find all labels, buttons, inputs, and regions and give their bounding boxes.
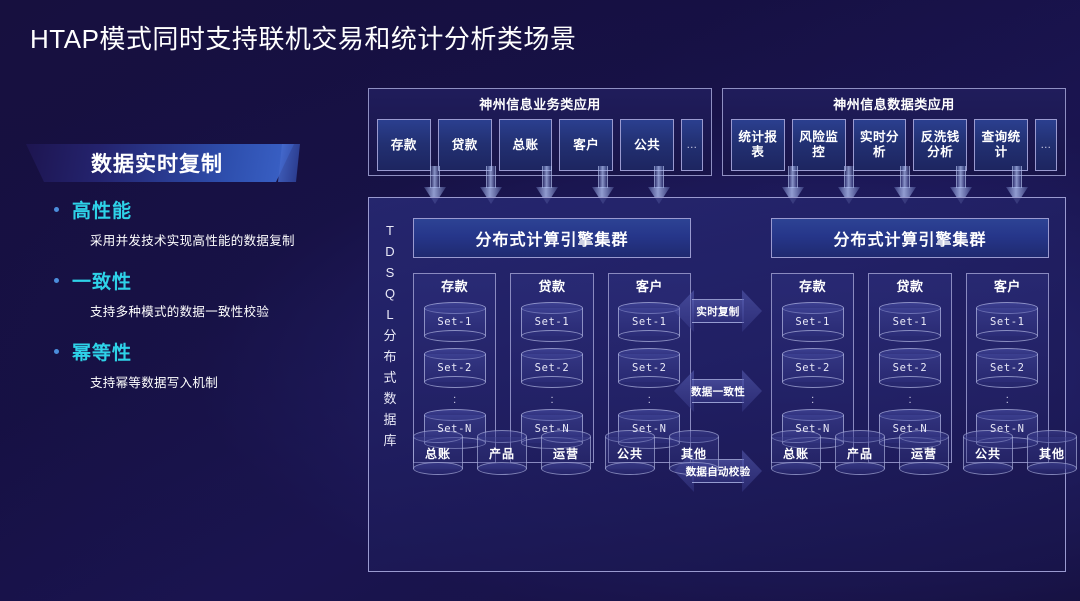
- app-cell-row: 统计报表 风险监控 实时分析 反洗钱分析 查询统计 …: [731, 119, 1057, 171]
- app-cell[interactable]: 公共: [620, 119, 674, 171]
- set-cylinder[interactable]: Set-1: [976, 302, 1038, 342]
- domain-title: 存款: [799, 278, 826, 296]
- bullet-dot-icon: [54, 349, 59, 354]
- set-cylinder[interactable]: Set-1: [782, 302, 844, 342]
- domain-row: 存款 Set-1 Set-2 .. Set-N 贷款 Set-1 Set-2 .…: [413, 273, 691, 463]
- feature-item-0: 高性能 采用并发技术实现高性能的数据复制: [26, 196, 356, 249]
- app-cell[interactable]: 贷款: [438, 119, 492, 171]
- set-label: Set-2: [990, 362, 1025, 374]
- set-cylinder[interactable]: Set-2: [618, 348, 680, 388]
- tdsql-char: 布: [377, 346, 403, 367]
- feature-item-1: 一致性 支持多种模式的数据一致性校验: [26, 267, 356, 320]
- set-cylinder[interactable]: Set-2: [424, 348, 486, 388]
- app-cell-more[interactable]: …: [1035, 119, 1057, 171]
- app-cell[interactable]: 存款: [377, 119, 431, 171]
- set-label: Set-N: [535, 423, 570, 435]
- app-cell[interactable]: 客户: [559, 119, 613, 171]
- set-label: Set-2: [795, 362, 830, 374]
- compute-engine-box[interactable]: 分布式计算引擎集群: [413, 218, 691, 258]
- set-cylinder[interactable]: Set-2: [879, 348, 941, 388]
- app-cell-more[interactable]: …: [681, 119, 703, 171]
- compute-engine-box[interactable]: 分布式计算引擎集群: [771, 218, 1049, 258]
- sync-arrow-realtime-replication: 实时复制: [674, 290, 762, 332]
- set-cylinder[interactable]: Set-2: [782, 348, 844, 388]
- feature-desc: 支持幂等数据写入机制: [26, 372, 356, 391]
- cluster-left: 分布式计算引擎集群 存款 Set-1 Set-2 .. Set-N 贷款 Set…: [413, 218, 691, 463]
- set-label: Set-N: [632, 423, 667, 435]
- set-label: Set-N: [437, 423, 472, 435]
- architecture-diagram: 神州信息业务类应用 存款 贷款 总账 客户 公共 … 神州信息数据类应用 统计报…: [368, 88, 1068, 574]
- tdsql-char: D: [377, 241, 403, 262]
- feature-title-row: 一致性: [26, 267, 356, 294]
- tdsql-char: 式: [377, 367, 403, 388]
- domain-title: 存款: [441, 278, 468, 296]
- tdsql-char: T: [377, 220, 403, 241]
- set-cylinder[interactable]: Set-1: [879, 302, 941, 342]
- vertical-ellipsis-icon: ..: [811, 393, 814, 403]
- app-cell[interactable]: 反洗钱分析: [913, 119, 967, 171]
- bottom-cylinder[interactable]: 运营: [899, 430, 949, 476]
- sync-arrow-data-consistency: 数据一致性: [674, 370, 762, 412]
- tdsql-char: S: [377, 262, 403, 283]
- banner-label: 数据实时复制: [26, 148, 294, 178]
- bottom-cylinder-label: 总账: [425, 445, 451, 462]
- set-cylinder[interactable]: Set-2: [976, 348, 1038, 388]
- tdsql-char: 库: [377, 430, 403, 451]
- feature-desc: 支持多种模式的数据一致性校验: [26, 301, 356, 320]
- set-label: Set-1: [535, 316, 570, 328]
- sync-arrow-label: 数据一致性: [674, 370, 762, 412]
- bottom-cylinder[interactable]: 总账: [413, 430, 463, 476]
- feature-title-row: 幂等性: [26, 338, 356, 365]
- bottom-cylinder[interactable]: 产品: [835, 430, 885, 476]
- set-cylinder[interactable]: Set-1: [618, 302, 680, 342]
- domain-title: 贷款: [896, 278, 923, 296]
- set-label: Set-N: [795, 423, 830, 435]
- bottom-cylinder-row-right: 总账 产品 运营 公共 其他: [771, 430, 1077, 476]
- set-label: Set-N: [990, 423, 1025, 435]
- app-cell[interactable]: 实时分析: [853, 119, 907, 171]
- app-group-business: 神州信息业务类应用 存款 贷款 总账 客户 公共 …: [368, 88, 712, 176]
- bottom-cylinder[interactable]: 总账: [771, 430, 821, 476]
- app-cell[interactable]: 风险监控: [792, 119, 846, 171]
- vertical-ellipsis-icon: ..: [648, 393, 651, 403]
- set-label: Set-1: [632, 316, 667, 328]
- bottom-cylinder-label: 公共: [617, 445, 643, 462]
- set-label: Set-N: [893, 423, 928, 435]
- app-cell[interactable]: 查询统计: [974, 119, 1028, 171]
- section-banner: 数据实时复制: [26, 144, 294, 182]
- sync-arrow-label: 实时复制: [674, 290, 762, 332]
- app-group-data: 神州信息数据类应用 统计报表 风险监控 实时分析 反洗钱分析 查询统计 …: [722, 88, 1066, 176]
- bottom-cylinder-label: 运营: [911, 445, 937, 462]
- domain-row: 存款 Set-1 Set-2 .. Set-N 贷款 Set-1 Set-2 .…: [771, 273, 1049, 463]
- vertical-ellipsis-icon: ..: [908, 393, 911, 403]
- bottom-cylinder[interactable]: 运营: [541, 430, 591, 476]
- feature-title: 幂等性: [72, 338, 132, 365]
- tdsql-char: 据: [377, 409, 403, 430]
- tdsql-char: Q: [377, 283, 403, 304]
- set-cylinder[interactable]: Set-1: [424, 302, 486, 342]
- bottom-cylinder-label: 其他: [681, 445, 707, 462]
- app-group-title: 神州信息业务类应用: [377, 95, 703, 115]
- set-label: Set-2: [893, 362, 928, 374]
- set-label: Set-1: [795, 316, 830, 328]
- tdsql-vertical-label: T D S Q L 分 布 式 数 据 库: [377, 220, 403, 451]
- feature-desc: 采用并发技术实现高性能的数据复制: [26, 230, 356, 249]
- app-cell-row: 存款 贷款 总账 客户 公共 …: [377, 119, 703, 171]
- feature-title-row: 高性能: [26, 196, 356, 223]
- left-feature-panel: 数据实时复制 高性能 采用并发技术实现高性能的数据复制 一致性 支持多种模式的数…: [26, 144, 356, 391]
- cluster-right: 分布式计算引擎集群 存款 Set-1 Set-2 .. Set-N 贷款 Set…: [771, 218, 1049, 463]
- bullet-dot-icon: [54, 278, 59, 283]
- bottom-cylinder-label: 产品: [489, 445, 515, 462]
- vertical-ellipsis-icon: ..: [550, 393, 553, 403]
- vertical-ellipsis-icon: ..: [453, 393, 456, 403]
- bottom-cylinder[interactable]: 公共: [605, 430, 655, 476]
- tdsql-char: L: [377, 304, 403, 325]
- slide-canvas: HTAP模式同时支持联机交易和统计分析类场景 数据实时复制 高性能 采用并发技术…: [0, 0, 1080, 601]
- tdsql-panel: T D S Q L 分 布 式 数 据 库 分布式计算引擎集群 存款 Set-1: [368, 197, 1066, 572]
- domain-title: 客户: [636, 278, 663, 296]
- bottom-cylinder-label: 产品: [847, 445, 873, 462]
- page-title: HTAP模式同时支持联机交易和统计分析类场景: [30, 19, 576, 56]
- set-cylinder[interactable]: Set-1: [521, 302, 583, 342]
- bottom-cylinder-label: 公共: [975, 445, 1001, 462]
- feature-title: 高性能: [72, 196, 132, 223]
- set-label: Set-1: [990, 316, 1025, 328]
- bullet-dot-icon: [54, 207, 59, 212]
- bottom-cylinder-label: 运营: [553, 445, 579, 462]
- set-label: Set-2: [437, 362, 472, 374]
- domain-title: 客户: [994, 278, 1021, 296]
- vertical-ellipsis-icon: ..: [1006, 393, 1009, 403]
- feature-item-2: 幂等性 支持幂等数据写入机制: [26, 338, 356, 391]
- tdsql-char: 分: [377, 325, 403, 346]
- bottom-cylinder[interactable]: 其他: [1027, 430, 1077, 476]
- app-cell[interactable]: 总账: [499, 119, 553, 171]
- set-label: Set-2: [535, 362, 570, 374]
- bottom-cylinder-label: 总账: [783, 445, 809, 462]
- set-label: Set-1: [893, 316, 928, 328]
- tdsql-char: 数: [377, 388, 403, 409]
- app-cell[interactable]: 统计报表: [731, 119, 785, 171]
- set-label: Set-1: [437, 316, 472, 328]
- app-group-title: 神州信息数据类应用: [731, 95, 1057, 115]
- domain-title: 贷款: [538, 278, 565, 296]
- set-label: Set-2: [632, 362, 667, 374]
- bottom-cylinder[interactable]: 公共: [963, 430, 1013, 476]
- bottom-cylinder-label: 其他: [1039, 445, 1065, 462]
- set-cylinder[interactable]: Set-2: [521, 348, 583, 388]
- feature-title: 一致性: [72, 267, 132, 294]
- bottom-cylinder[interactable]: 产品: [477, 430, 527, 476]
